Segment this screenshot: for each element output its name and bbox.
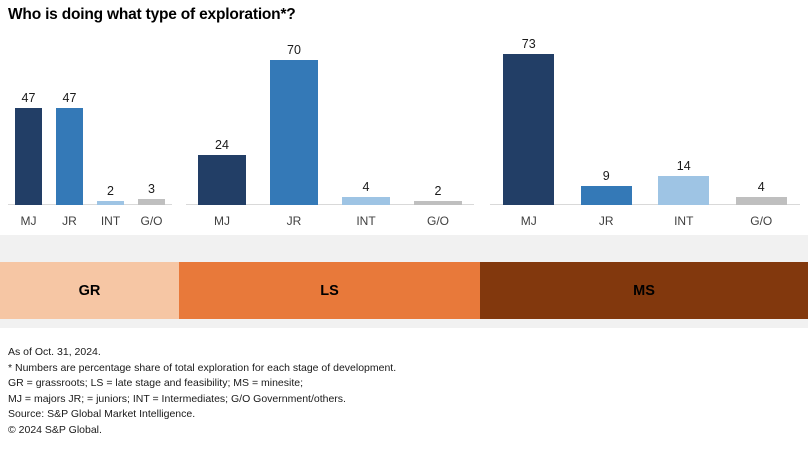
x-axis-tick-label: INT [644, 214, 723, 228]
bar-value-label: 2 [400, 184, 476, 198]
bar-value-label: 3 [124, 182, 179, 196]
bar-ms-go[interactable]: 4G/O [736, 30, 787, 235]
bar-ls-int[interactable]: 4INT [342, 30, 390, 235]
chart-plot-area: 47MJ47JR2INT3G/O24MJ70JR4INT2G/O73MJ9JR1… [0, 30, 808, 235]
bar-rect [270, 60, 318, 205]
x-axis-tick-label: MJ [489, 214, 568, 228]
x-axis-tick-label: G/O [124, 214, 179, 228]
footnote-line: © 2024 S&P Global. [8, 423, 798, 439]
bar-rect [736, 197, 787, 205]
bar-rect [658, 176, 709, 205]
bar-value-label: 24 [184, 138, 260, 152]
stage-band-strip: GRLSMS [0, 262, 808, 319]
bar-rect [414, 201, 462, 205]
footnote-line: Source: S&P Global Market Intelligence. [8, 407, 798, 423]
x-axis-tick-label: INT [328, 214, 404, 228]
stage-band-gr[interactable]: GR [0, 262, 179, 319]
bar-value-label: 4 [722, 180, 801, 194]
bar-gr-go[interactable]: 3G/O [138, 30, 165, 235]
bar-value-label: 9 [567, 169, 646, 183]
page-title: Who is doing what type of exploration*? [8, 6, 296, 24]
stage-band-ms[interactable]: MS [480, 262, 808, 319]
bar-rect [342, 197, 390, 205]
x-axis-tick-label: G/O [722, 214, 801, 228]
bar-ls-mj[interactable]: 24MJ [198, 30, 246, 235]
x-axis-tick-label: JR [567, 214, 646, 228]
bar-rect [138, 199, 165, 205]
footnotes-block: As of Oct. 31, 2024.* Numbers are percen… [8, 345, 798, 439]
bar-rect [581, 186, 632, 205]
bar-value-label: 70 [256, 43, 332, 57]
bar-gr-int[interactable]: 2INT [97, 30, 124, 235]
x-axis-tick-label: G/O [400, 214, 476, 228]
bar-ms-mj[interactable]: 73MJ [503, 30, 554, 235]
bar-ls-go[interactable]: 2G/O [414, 30, 462, 235]
bar-ls-jr[interactable]: 70JR [270, 30, 318, 235]
bar-ms-int[interactable]: 14INT [658, 30, 709, 235]
footnote-line: MJ = majors JR; = juniors; INT = Interme… [8, 392, 798, 408]
bar-gr-mj[interactable]: 47MJ [15, 30, 42, 235]
bar-group-gr: 47MJ47JR2INT3G/O [8, 30, 172, 235]
bar-rect [198, 155, 246, 205]
bar-rect [97, 201, 124, 205]
bar-value-label: 14 [644, 159, 723, 173]
bar-value-label: 4 [328, 180, 404, 194]
footnote-line: * Numbers are percentage share of total … [8, 361, 798, 377]
x-axis-tick-label: JR [256, 214, 332, 228]
bar-rect [503, 54, 554, 205]
stage-band-ls[interactable]: LS [179, 262, 480, 319]
bar-group-ls: 24MJ70JR4INT2G/O [186, 30, 474, 235]
bar-ms-jr[interactable]: 9JR [581, 30, 632, 235]
bar-value-label: 73 [489, 37, 568, 51]
bar-gr-jr[interactable]: 47JR [56, 30, 83, 235]
footnote-line: GR = grassroots; LS = late stage and fea… [8, 376, 798, 392]
bar-rect [15, 108, 42, 205]
bar-group-ms: 73MJ9JR14INT4G/O [490, 30, 800, 235]
footnote-line: As of Oct. 31, 2024. [8, 345, 798, 361]
bar-rect [56, 108, 83, 205]
bar-value-label: 47 [42, 91, 97, 105]
x-axis-tick-label: MJ [184, 214, 260, 228]
